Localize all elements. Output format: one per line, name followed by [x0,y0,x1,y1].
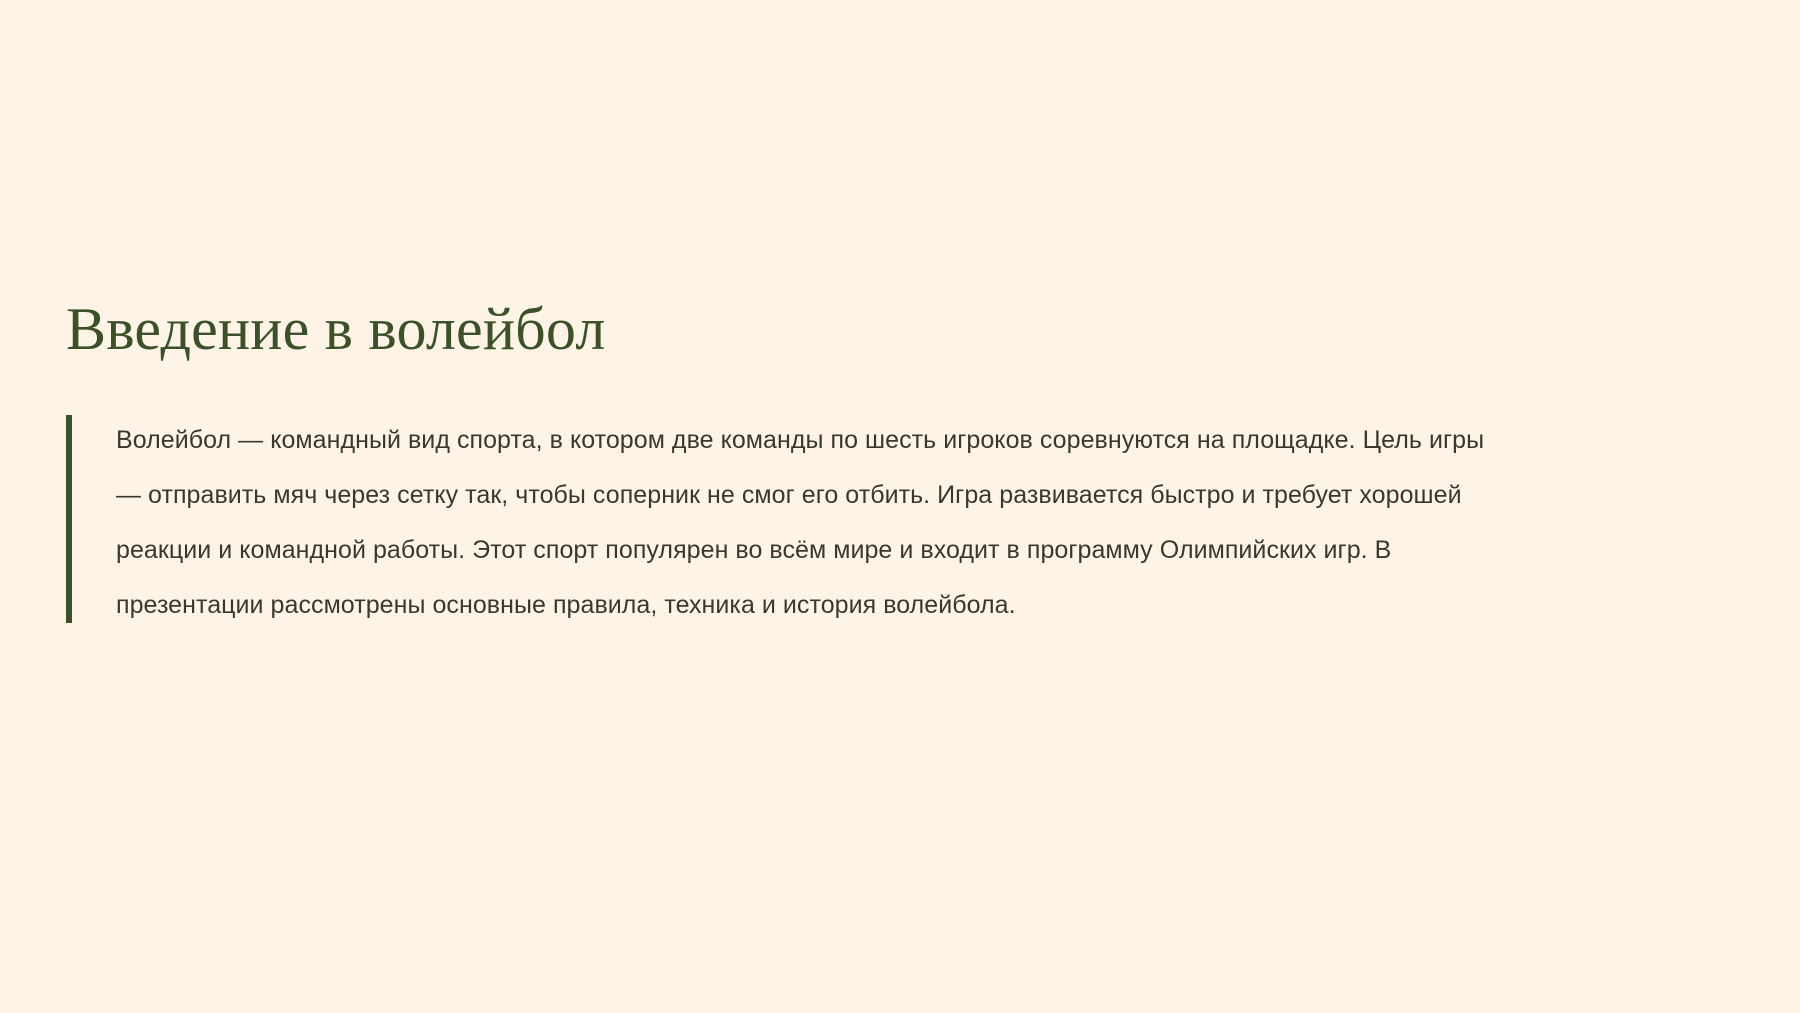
body-callout: Волейбол — командный вид спорта, в котор… [66,413,1742,633]
page-title: Введение в волейбол [66,296,1742,363]
slide: Введение в волейбол Волейбол — командный… [0,0,1800,1013]
accent-bar [66,415,72,623]
slide-content: Введение в волейбол Волейбол — командный… [66,296,1742,633]
body-paragraph: Волейбол — командный вид спорта, в котор… [116,413,1506,633]
